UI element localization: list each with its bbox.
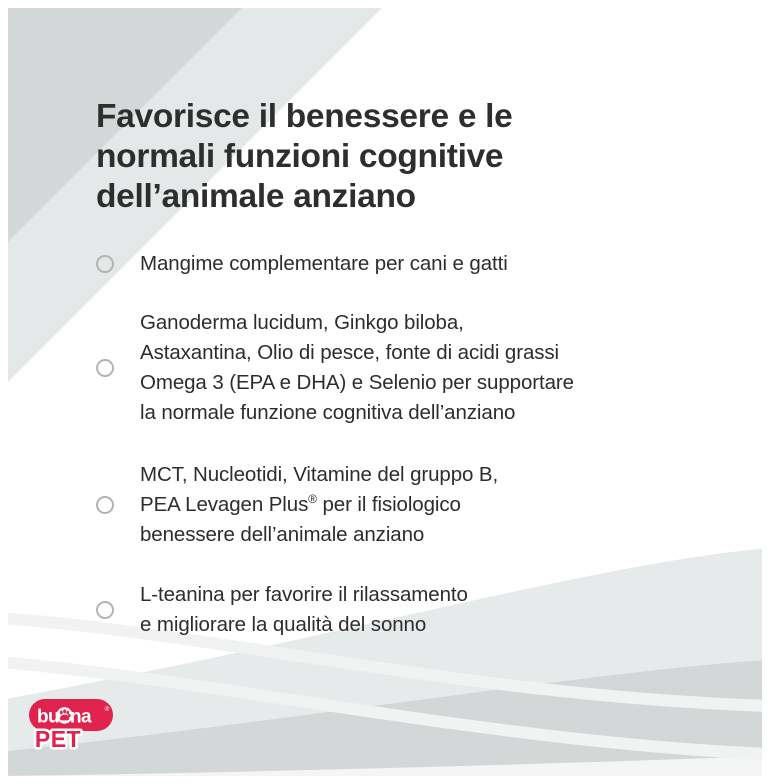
- brand-logo: bu na ® PET PET: [27, 697, 123, 755]
- list-item: Ganoderma lucidum, Ginkgo biloba, Astaxa…: [96, 308, 721, 428]
- logo-trademark: ®: [105, 705, 110, 713]
- list-item: Mangime complementare per cani e gatti: [96, 248, 721, 280]
- logo-product-line: PET: [35, 726, 81, 752]
- circle-bullet-icon: [96, 255, 114, 273]
- list-item-label: MCT, Nucleotidi, Vitamine del gruppo B, …: [140, 460, 498, 550]
- circle-bullet-icon: [96, 601, 114, 619]
- logo-brand-text-2: na: [70, 707, 92, 728]
- slide-canvas: Favorisce il benessere e le normali funz…: [0, 0, 770, 784]
- list-item-label: L-teanina per favorire il rilassamento e…: [140, 580, 468, 640]
- list-item: MCT, Nucleotidi, Vitamine del gruppo B, …: [96, 460, 721, 550]
- list-item-label: Mangime complementare per cani e gatti: [140, 249, 508, 279]
- circle-bullet-icon: [96, 496, 114, 514]
- logo-brand-text: bu: [37, 707, 59, 728]
- circle-bullet-icon: [96, 359, 114, 377]
- list-item-label: Ganoderma lucidum, Ginkgo biloba, Astaxa…: [140, 308, 574, 428]
- decor-wave-pale: [0, 756, 770, 784]
- list-item: L-teanina per favorire il rilassamento e…: [96, 580, 721, 640]
- feature-list: Mangime complementare per cani e gatti G…: [96, 248, 721, 640]
- registered-trademark-mark: ®: [308, 492, 317, 506]
- page-title: Favorisce il benessere e le normali funz…: [96, 97, 696, 217]
